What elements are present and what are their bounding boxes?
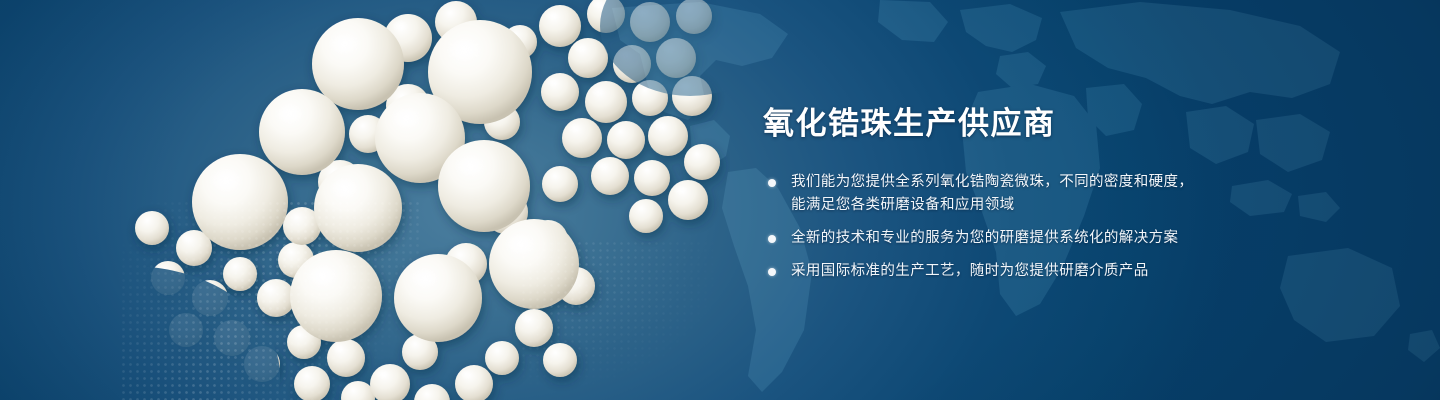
banner-headline: 氧化锆珠生产供应商	[763, 104, 1283, 144]
bullet-line: 采用国际标准的生产工艺，随时为您提供研磨介质产品	[791, 260, 1283, 283]
dot-bullet-icon	[768, 235, 776, 243]
hero-banner: 氧化锆珠生产供应商 我们能为您提供全系列氧化锆陶瓷微珠，不同的密度和硬度， 能满…	[0, 0, 1440, 400]
bullet-line: 我们能为您提供全系列氧化锆陶瓷微珠，不同的密度和硬度，	[791, 171, 1283, 194]
dot-bullet-icon	[768, 179, 776, 187]
bullet-line: 全新的技术和专业的服务为您的研磨提供系统化的解决方案	[791, 227, 1283, 250]
list-item: 全新的技术和专业的服务为您的研磨提供系统化的解决方案	[763, 227, 1283, 250]
banner-copy: 氧化锆珠生产供应商 我们能为您提供全系列氧化锆陶瓷微珠，不同的密度和硬度， 能满…	[763, 104, 1283, 283]
dot-bullet-icon	[768, 268, 776, 276]
banner-bullet-list: 我们能为您提供全系列氧化锆陶瓷微珠，不同的密度和硬度， 能满足您各类研磨设备和应…	[763, 171, 1283, 283]
bullet-line: 能满足您各类研磨设备和应用领域	[791, 194, 1283, 217]
list-item: 采用国际标准的生产工艺，随时为您提供研磨介质产品	[763, 260, 1283, 283]
list-item: 我们能为您提供全系列氧化锆陶瓷微珠，不同的密度和硬度， 能满足您各类研磨设备和应…	[763, 171, 1283, 217]
